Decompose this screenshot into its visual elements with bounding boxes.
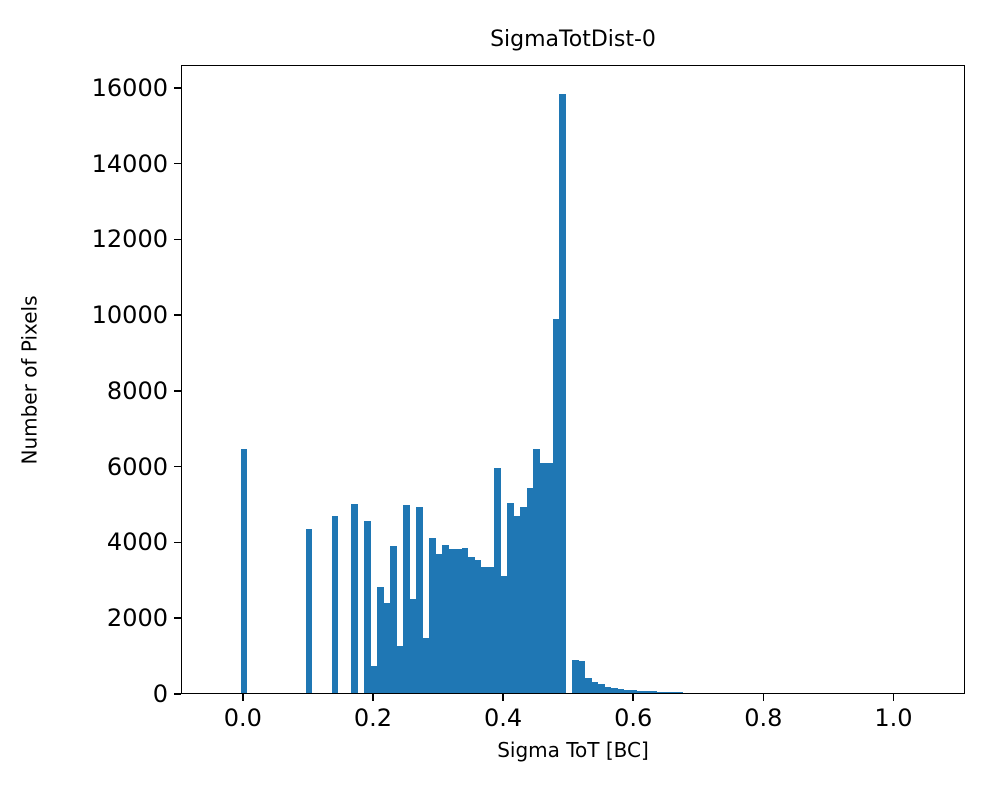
x-axis-tick-label: 0.6 [614,704,652,732]
plot-area [181,65,965,694]
y-axis-tick-label: 16000 [92,74,168,102]
histogram-bar [637,691,644,693]
histogram-bar [306,529,313,693]
y-axis-tick-mark [174,390,181,392]
y-axis-tick-label: 10000 [92,301,168,329]
y-axis-tick-mark [174,617,181,619]
histogram-bar [410,599,417,693]
x-axis-tick-label: 0.2 [354,704,392,732]
y-axis-tick-label: 4000 [107,528,168,556]
y-axis-label: Number of Pixels [14,65,44,694]
histogram-bar [488,567,495,693]
x-axis-tick-mark [242,694,244,701]
histogram-bar [618,689,625,693]
histogram-bar [540,463,547,693]
x-axis-tick-mark [372,694,374,701]
histogram-bar [390,546,397,693]
histogram-bar [676,692,683,693]
y-axis-tick-label: 0 [153,680,168,708]
histogram-bar [377,587,384,693]
histogram-bar [423,638,430,693]
x-axis-tick-mark [763,694,765,701]
histogram-bar [455,549,462,693]
y-axis-tick-mark [174,693,181,695]
histogram-bar [507,503,514,693]
y-axis-tick-label: 6000 [107,453,168,481]
y-axis-tick-mark [174,163,181,165]
y-axis-tick-mark [174,466,181,468]
y-axis-tick-mark [174,239,181,241]
histogram-bar [442,545,449,693]
y-axis-label-text: Number of Pixels [17,295,41,464]
x-axis-tick-mark [632,694,634,701]
histogram-bar [332,516,339,693]
x-axis-label: Sigma ToT [BC] [181,738,965,762]
histogram-bar [605,687,612,693]
histogram-bar [559,94,566,693]
x-axis-tick-label: 0.4 [484,704,522,732]
x-axis-tick-label: 1.0 [874,704,912,732]
matplotlib-figure: SigmaTotDist-0 0200040006000800010000120… [0,0,1000,800]
histogram-bar [475,560,482,693]
x-axis-tick-mark [893,694,895,701]
histogram-bar [520,507,527,693]
y-axis-tick-label: 12000 [92,225,168,253]
y-axis-tick-mark [174,542,181,544]
page-title: SigmaTotDist-0 [181,28,965,52]
x-axis-tick-label: 0.0 [224,704,262,732]
y-axis-tick-mark [174,314,181,316]
histogram-bar [670,692,677,693]
histogram-bar [553,319,560,693]
y-axis-tick-label: 14000 [92,150,168,178]
histogram-bar [572,660,579,693]
histogram-bar [650,691,657,693]
y-axis-tick-label: 8000 [107,377,168,405]
histogram-bar [585,678,592,693]
y-axis-tick-mark [174,87,181,89]
histogram-bar [241,449,248,693]
y-axis-tick-label: 2000 [107,604,168,632]
histogram-bars [182,66,964,693]
x-axis-tick-label: 0.8 [744,704,782,732]
x-axis-tick-mark [502,694,504,701]
histogram-bar [351,504,358,693]
